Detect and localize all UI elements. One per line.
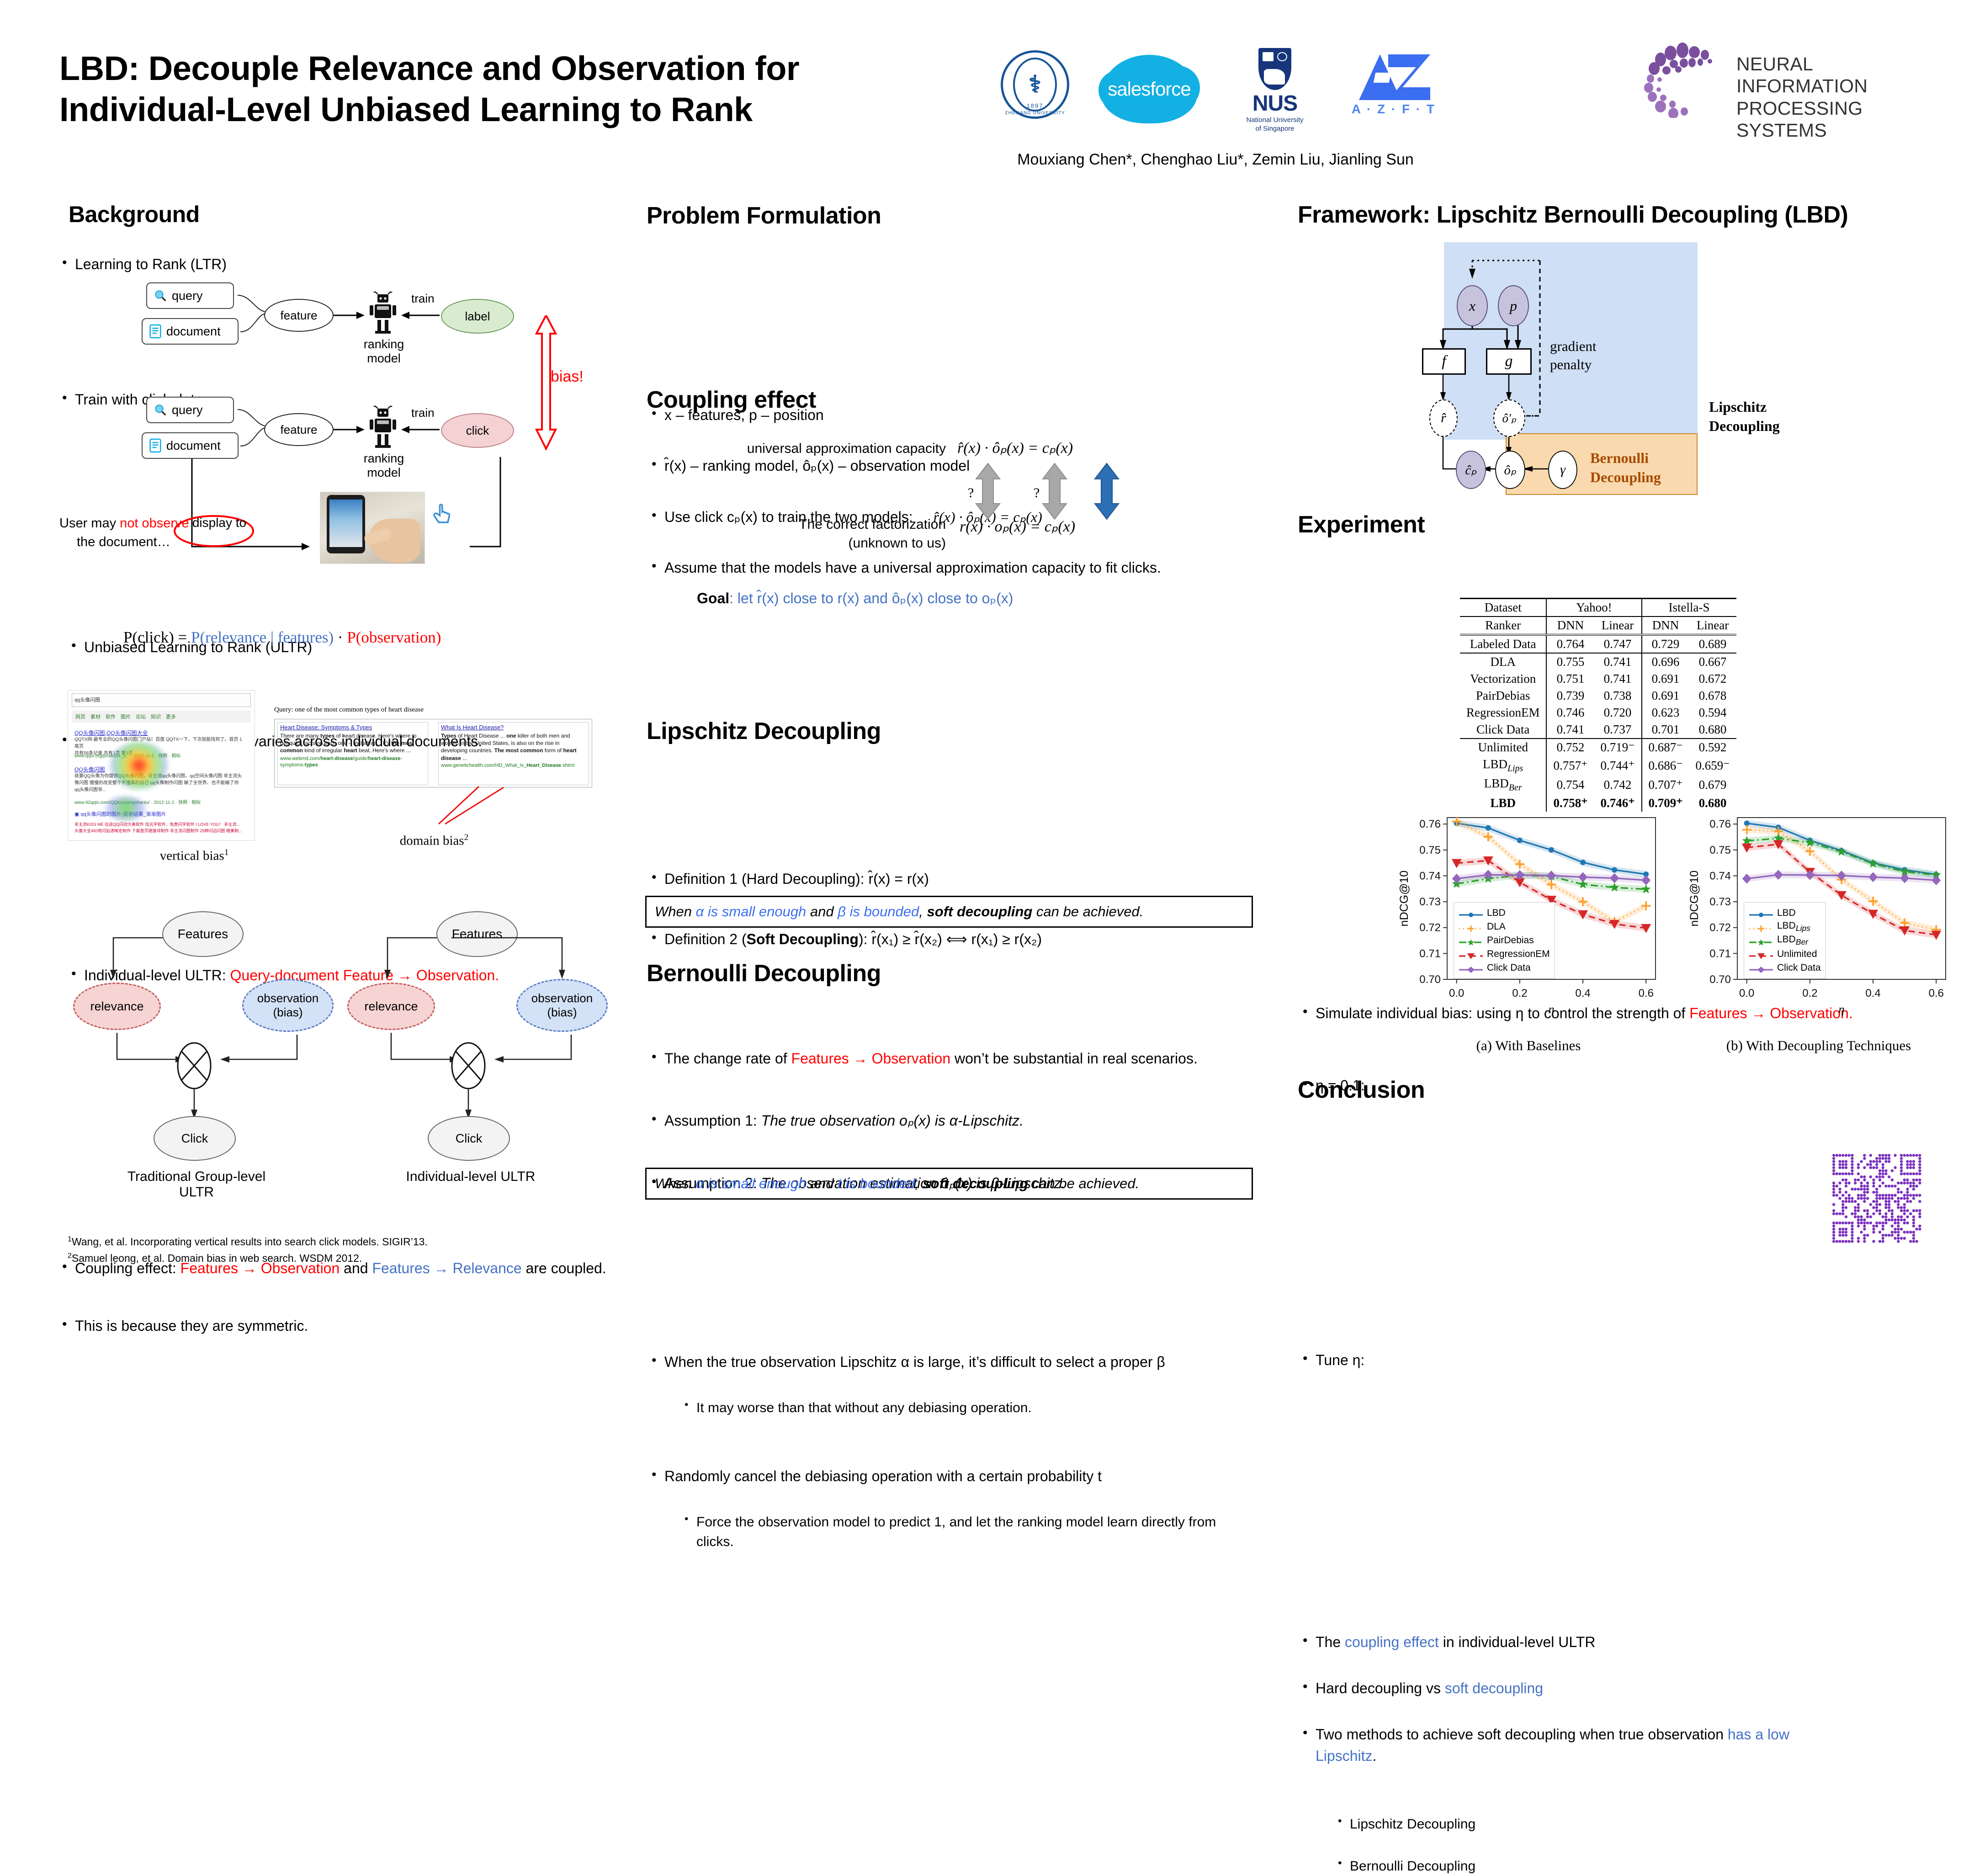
y-tick-label: 0.72 bbox=[1419, 922, 1441, 934]
logo-row: ⚕ 1897 ZHEJIANG UNIVERSITY salesforce NU… bbox=[987, 46, 1471, 137]
col-istella-linear: Linear bbox=[1689, 616, 1736, 635]
x-tick-label: 0.6 bbox=[1929, 987, 1944, 999]
y-tick-label: 0.71 bbox=[1419, 947, 1441, 960]
col-group-yahoo: Yahoo! bbox=[1546, 599, 1641, 617]
bernoulli-statement-box: When α is small enough and t is bounded,… bbox=[645, 1168, 1253, 1200]
legend-swatch bbox=[1749, 965, 1773, 971]
legend-swatch bbox=[1459, 924, 1483, 930]
table-cell: 0.680 bbox=[1689, 721, 1736, 739]
legend-item: RegressionEM bbox=[1459, 947, 1550, 961]
section-heading-problem-formulation: Problem Formulation bbox=[647, 202, 881, 229]
section-heading-bernoulli-decoupling: Bernoulli Decoupling bbox=[647, 960, 881, 987]
table-cell: 0.741 bbox=[1546, 721, 1594, 739]
table-cell: 0.696 bbox=[1642, 653, 1689, 670]
legend-item: LBDLips bbox=[1749, 920, 1821, 934]
experiment-table-body: Labeled Data0.7640.7470.7290.689DLA0.755… bbox=[1460, 635, 1736, 812]
x-tick-label: 0.4 bbox=[1575, 987, 1590, 999]
footnotes: 1Wang, et al. Incorporating vertical res… bbox=[68, 1234, 570, 1266]
nus-subtitle: National University of Singapore bbox=[1234, 116, 1316, 133]
y-tick-label: 0.75 bbox=[1419, 844, 1441, 856]
data-point bbox=[1486, 825, 1491, 831]
table-row-label: Labeled Data bbox=[1460, 635, 1546, 653]
cursor-hand-icon bbox=[430, 502, 457, 529]
serp-domain-bias-screenshot: Query: one of the most common types of h… bbox=[274, 706, 594, 829]
author-list: Mouxiang Chen*, Chenghao Liu*, Zemin Liu… bbox=[987, 151, 1444, 169]
node-p: p bbox=[1498, 285, 1529, 326]
node-gamma: γ bbox=[1548, 451, 1577, 489]
y-tick-label: 0.73 bbox=[1419, 896, 1441, 908]
bullet-change-rate: The change rate of Features → Observatio… bbox=[649, 1048, 1257, 1069]
table-cell: 0.679 bbox=[1689, 775, 1736, 794]
y-tick-label: 0.72 bbox=[1709, 922, 1731, 934]
data-point bbox=[1612, 867, 1617, 872]
table-cell: 0.623 bbox=[1642, 704, 1689, 721]
legend-label: Click Data bbox=[1487, 962, 1531, 973]
data-point bbox=[1580, 860, 1586, 865]
table-row: Vectorization0.7510.7410.6910.672 bbox=[1460, 670, 1736, 687]
label-universal-approximation-capacity: universal approximation capacity bbox=[672, 441, 946, 457]
table-row: PairDebias0.7390.7380.6910.678 bbox=[1460, 687, 1736, 704]
nus-shield-icon bbox=[1258, 48, 1291, 90]
legend-item: DLA bbox=[1459, 920, 1550, 934]
serp-red-pointer-lines bbox=[434, 785, 507, 826]
lipschitz-statement-box: When α is small enough and β is bounded,… bbox=[645, 896, 1253, 928]
zju-year: 1897 bbox=[1003, 102, 1067, 109]
table-cell: 0.755 bbox=[1546, 653, 1594, 670]
legend-label: DLA bbox=[1487, 921, 1506, 932]
click-node: click bbox=[441, 413, 514, 448]
train-label-1: train bbox=[411, 292, 435, 306]
legend-item: LBD bbox=[1459, 906, 1550, 920]
document-icon bbox=[149, 438, 162, 453]
x-tick-label: 0.0 bbox=[1449, 987, 1464, 999]
legend-item: Unlimited bbox=[1749, 947, 1821, 961]
query-box-2: query bbox=[146, 397, 234, 423]
table-cell: 0.746 bbox=[1546, 704, 1594, 721]
table-cell: 0.741 bbox=[1594, 670, 1642, 687]
table-cell: 0.738 bbox=[1594, 687, 1642, 704]
document-icon bbox=[149, 324, 162, 339]
section-heading-framework: Framework: Lipschitz Bernoulli Decouplin… bbox=[1298, 201, 1848, 229]
table-row-label: LBDBer bbox=[1460, 775, 1546, 794]
table-cell: 0.659⁻ bbox=[1689, 756, 1736, 775]
salesforce-logo: salesforce bbox=[1101, 55, 1197, 123]
table-cell: 0.744⁺ bbox=[1594, 756, 1642, 775]
table-cell: 0.739 bbox=[1546, 687, 1594, 704]
legend-swatch bbox=[1459, 951, 1483, 957]
bullet-assumption-1: Assumption 1: The true observation oₚ(x)… bbox=[649, 1110, 1257, 1131]
table-row-label: LBDLips bbox=[1460, 756, 1546, 775]
train-label-2: train bbox=[411, 406, 435, 420]
table-cell: 0.687⁻ bbox=[1642, 739, 1689, 756]
y-tick-label: 0.71 bbox=[1709, 947, 1731, 960]
subbullet-bernoulli-decoupling: Bernoulli Decoupling bbox=[1334, 1856, 1746, 1876]
chart-with-decoupling-techniques: 0.700.710.720.730.740.750.760.00.20.40.6… bbox=[1686, 811, 1951, 1021]
node-x: x bbox=[1457, 285, 1488, 326]
y-axis-label: nDCG@10 bbox=[1688, 871, 1701, 927]
section-heading-experiment: Experiment bbox=[1298, 511, 1425, 538]
azft-mark-icon bbox=[1348, 53, 1439, 102]
bullet-random-cancel: Randomly cancel the debiasing operation … bbox=[649, 1466, 1257, 1487]
title-line-1: LBD: Decouple Relevance and Observation … bbox=[59, 48, 973, 89]
document-box-2: document bbox=[142, 432, 239, 459]
x-tick-label: 0.2 bbox=[1512, 987, 1527, 999]
x-tick-label: 0.4 bbox=[1865, 987, 1880, 999]
section-heading-coupling-effect: Coupling effect bbox=[647, 386, 816, 414]
table-row-label: Unlimited bbox=[1460, 739, 1546, 756]
table-cell: 0.747 bbox=[1594, 635, 1642, 653]
page-title: LBD: Decouple Relevance and Observation … bbox=[59, 48, 973, 131]
node-g: g bbox=[1486, 348, 1532, 375]
table-cell: 0.691 bbox=[1642, 687, 1689, 704]
legend-item: PairDebias bbox=[1459, 934, 1550, 947]
table-cell: 0.689 bbox=[1689, 635, 1736, 653]
table-header-row-1: Dataset Yahoo! Istella-S bbox=[1460, 599, 1736, 617]
y-tick-label: 0.75 bbox=[1709, 844, 1731, 856]
bullet-two-methods: Two methods to achieve soft decoupling w… bbox=[1300, 1724, 1812, 1766]
table-cell: 0.758⁺ bbox=[1546, 795, 1594, 812]
user-not-observe-note: User may not observe the document… bbox=[59, 514, 260, 551]
table-header-row-2: Ranker DNN Linear DNN Linear bbox=[1460, 616, 1736, 635]
table-cell: 0.752 bbox=[1546, 739, 1594, 756]
legend-item: Click Data bbox=[1459, 961, 1550, 975]
serp-right-title: What Is Heart Disease? bbox=[439, 723, 589, 732]
table-row-label: LBD bbox=[1460, 795, 1546, 812]
phone-photo bbox=[320, 492, 425, 564]
col-yahoo-linear: Linear bbox=[1594, 616, 1642, 635]
chart-legend: LBDDLAPairDebiasRegressionEMClick Data bbox=[1454, 902, 1555, 979]
bullet-coupling-effect-conclusion: The coupling effect in individual-level … bbox=[1300, 1632, 1803, 1653]
azft-logo: A · Z · F · T bbox=[1348, 53, 1439, 130]
subbullet-lipschitz-decoupling: Lipschitz Decoupling bbox=[1334, 1814, 1746, 1834]
neurips-wordmark: NEURAL INFORMATION PROCESSING SYSTEMS bbox=[1736, 53, 1942, 142]
query-label-2: query bbox=[172, 403, 203, 417]
col-group-istella: Istella-S bbox=[1642, 599, 1736, 617]
table-cell: 0.751 bbox=[1546, 670, 1594, 687]
legend-label: RegressionEM bbox=[1487, 949, 1550, 960]
legend-swatch bbox=[1749, 910, 1773, 916]
multiply-node-right bbox=[451, 1042, 486, 1089]
label-lipschitz-decoupling: Lipschitz Decoupling bbox=[1709, 398, 1780, 436]
node-r-hat: r̂ bbox=[1429, 399, 1458, 437]
robot-icon-2 bbox=[368, 406, 398, 450]
table-cell: 0.672 bbox=[1689, 670, 1736, 687]
col-yahoo-dnn: DNN bbox=[1546, 616, 1594, 635]
document-label-2: document bbox=[166, 439, 221, 453]
arrow-feature-to-model-2 bbox=[334, 421, 366, 438]
nus-logo: NUS National University of Singapore bbox=[1234, 48, 1316, 137]
feature-node-2: feature bbox=[264, 413, 334, 446]
footnote-2: 2Samuel leong, et al. Domain bias in web… bbox=[68, 1250, 570, 1267]
document-label-1: document bbox=[166, 324, 221, 339]
table-cell: 0.720 bbox=[1594, 704, 1642, 721]
y-tick-label: 0.74 bbox=[1709, 870, 1731, 882]
ultr-graphical-models: Features relevance observation (bias) Cl… bbox=[64, 909, 658, 1147]
equation-true-factorization: r(x) · oₚ(x) = cₚ(x) bbox=[960, 517, 1075, 536]
table-cell: 0.742 bbox=[1594, 775, 1642, 794]
zju-arc-text: ZHEJIANG UNIVERSITY bbox=[1003, 111, 1067, 116]
table-row: DLA0.7550.7410.6960.667 bbox=[1460, 653, 1736, 670]
query-box-1: query bbox=[146, 282, 234, 309]
table-row: LBDLips0.757⁺0.744⁺0.686⁻0.659⁻ bbox=[1460, 756, 1736, 775]
legend-item: LBD bbox=[1749, 906, 1821, 920]
data-point bbox=[1549, 847, 1554, 853]
table-cell: 0.764 bbox=[1546, 635, 1594, 653]
label-bernoulli-decoupling: Bernoulli Decoupling bbox=[1590, 449, 1661, 487]
x-axis-label: η bbox=[1549, 1003, 1555, 1016]
bias-label: bias! bbox=[551, 368, 584, 386]
table-row-label: Click Data bbox=[1460, 721, 1546, 739]
table-row-label: Vectorization bbox=[1460, 670, 1546, 687]
svg-text:?: ? bbox=[1034, 485, 1040, 500]
table-cell: 0.680 bbox=[1689, 795, 1736, 812]
node-f: f bbox=[1422, 348, 1466, 375]
legend-label: LBD bbox=[1487, 908, 1506, 919]
y-axis-label: nDCG@10 bbox=[1398, 871, 1411, 927]
y-tick-label: 0.70 bbox=[1419, 973, 1441, 986]
caption-vertical-bias: vertical bias1 bbox=[126, 848, 263, 864]
table-row: Unlimited0.7520.719⁻0.687⁻0.592 bbox=[1460, 739, 1736, 756]
section-heading-lipschitz-decoupling: Lipschitz Decoupling bbox=[647, 717, 881, 745]
y-tick-label: 0.73 bbox=[1709, 896, 1731, 908]
zhejiang-university-logo: ⚕ 1897 ZHEJIANG UNIVERSITY bbox=[1001, 50, 1069, 119]
multiply-node-left bbox=[177, 1042, 212, 1089]
legend-label: Click Data bbox=[1777, 962, 1821, 973]
definition-1-hard-decoupling: Definition 1 (Hard Decoupling): r̂(x) = … bbox=[649, 868, 1243, 889]
label-correct-factorization: The correct factorization (unknown to us… bbox=[672, 516, 946, 553]
table-row-label: DLA bbox=[1460, 653, 1546, 670]
serp-left-title: Heart Disease: Symptoms & Types bbox=[278, 723, 428, 732]
edges-left-features bbox=[96, 933, 183, 988]
robot-icon-1 bbox=[368, 292, 398, 335]
bullet-learning-to-rank: Learning to Rank (LTR) bbox=[59, 254, 471, 275]
table-cell: 0.691 bbox=[1642, 670, 1689, 687]
azft-wordmark: A · Z · F · T bbox=[1348, 102, 1439, 117]
experiment-table-head: Dataset Yahoo! Istella-S Ranker DNN Line… bbox=[1460, 599, 1736, 635]
bullet-universal-approximation: Assume that the models have a universal … bbox=[649, 557, 1252, 578]
table-row: LBD0.758⁺0.746⁺0.709⁺0.680 bbox=[1460, 795, 1736, 812]
x-axis-label: η bbox=[1839, 1003, 1845, 1016]
section-heading-conclusion: Conclusion bbox=[1298, 1076, 1425, 1104]
arrow-feature-to-model-1 bbox=[334, 307, 366, 324]
legend-label: PairDebias bbox=[1487, 935, 1534, 946]
experiment-table: Dataset Yahoo! Istella-S Ranker DNN Line… bbox=[1460, 598, 1736, 812]
label-node: label bbox=[441, 299, 514, 334]
click-node-right: Click bbox=[428, 1116, 510, 1161]
search-icon bbox=[154, 289, 167, 303]
title-line-2: Individual-Level Unbiased Learning to Ra… bbox=[59, 89, 973, 130]
legend-item: Click Data bbox=[1749, 961, 1821, 975]
caption-individual-level-ultr: Individual-level ULTR bbox=[384, 1169, 557, 1185]
col-ranker: Ranker bbox=[1460, 616, 1546, 635]
svg-text:?: ? bbox=[968, 485, 974, 500]
table-row: Labeled Data0.7640.7470.7290.689 bbox=[1460, 635, 1736, 653]
table-cell: 0.729 bbox=[1642, 635, 1689, 653]
legend-swatch bbox=[1459, 965, 1483, 971]
legend-label: LBDBer bbox=[1777, 934, 1808, 947]
not-observe-emphasis: not observe bbox=[120, 516, 189, 531]
y-tick-label: 0.74 bbox=[1419, 870, 1441, 882]
legend-label: Unlimited bbox=[1777, 949, 1817, 960]
table-cell: 0.709⁺ bbox=[1642, 795, 1689, 812]
relevance-node-left: relevance bbox=[73, 983, 161, 1030]
x-tick-label: 0.6 bbox=[1639, 987, 1654, 999]
caption-traditional-group-ultr: Traditional Group-level ULTR bbox=[110, 1169, 283, 1200]
table-cell: 0.707⁺ bbox=[1642, 775, 1689, 794]
p-observation-term: P(observation) bbox=[347, 628, 441, 646]
nus-wordmark: NUS bbox=[1234, 91, 1316, 116]
query-label-1: query bbox=[172, 289, 203, 303]
serp-query-label: Query: one of the most common types of h… bbox=[274, 706, 424, 714]
table-cell: 0.594 bbox=[1689, 704, 1736, 721]
col-dataset: Dataset bbox=[1460, 599, 1546, 617]
table-cell: 0.592 bbox=[1689, 739, 1736, 756]
table-cell: 0.719⁻ bbox=[1594, 739, 1642, 756]
definition-2-soft-decoupling: Definition 2 (Soft Decoupling): r̂(x₁) ≥… bbox=[649, 929, 1243, 950]
y-tick-label: 0.70 bbox=[1709, 973, 1731, 986]
click-node-left: Click bbox=[154, 1116, 236, 1161]
node-o-hat: ôₚ bbox=[1495, 451, 1525, 489]
table-cell: 0.746⁺ bbox=[1594, 795, 1642, 812]
neurips-swirl-icon bbox=[1640, 40, 1732, 118]
legend-swatch bbox=[1749, 951, 1773, 957]
neurips-logo: NEURAL INFORMATION PROCESSING SYSTEMS bbox=[1640, 40, 1942, 118]
bullet-force-predict-one: Force the observation model to predict 1… bbox=[681, 1512, 1247, 1552]
caption-chart-b: (b) With Decoupling Techniques bbox=[1682, 1037, 1956, 1054]
search-icon bbox=[154, 403, 167, 417]
col-istella-dnn: DNN bbox=[1642, 616, 1689, 635]
label-gradient-penalty: gradient penalty bbox=[1550, 337, 1597, 374]
serp-heatmap-screenshot: qq头像闪图 网页 素材 软件 图片 论坛 知识 更多 QQ头像闪图,QQ头像闪… bbox=[68, 690, 255, 841]
legend-swatch bbox=[1459, 910, 1483, 916]
bullet-hard-vs-soft: Hard decoupling vs soft decoupling bbox=[1300, 1678, 1803, 1699]
y-tick-label: 0.76 bbox=[1419, 818, 1441, 830]
node-o-hat-prime: ô′ₚ bbox=[1493, 399, 1525, 437]
framework-diagram: x p f g r̂ ô′ₚ ôₚ γ ĉₚ gradient penalty … bbox=[1389, 242, 1910, 498]
bullet-worse-without-debias: It may worse than that without any debia… bbox=[681, 1398, 1257, 1418]
arrow-click-to-model bbox=[399, 421, 440, 438]
footnote-1: 1Wang, et al. Incorporating vertical res… bbox=[68, 1234, 570, 1250]
caption-chart-a: (a) With Baselines bbox=[1414, 1037, 1643, 1054]
bullet-symmetric: This is because they are symmetric. bbox=[59, 1315, 608, 1336]
bullet-tune-eta: Tune η: bbox=[1300, 1350, 1437, 1371]
table-cell: 0.667 bbox=[1689, 653, 1736, 670]
table-row-label: RegressionEM bbox=[1460, 704, 1546, 721]
legend-item: LBDBer bbox=[1749, 934, 1821, 947]
click-probability-formula: P(click) = P(relevance | features) · P(o… bbox=[123, 628, 603, 647]
arrow-label-to-model bbox=[399, 307, 440, 324]
legend-label: LBD bbox=[1777, 908, 1796, 919]
table-row-label: PairDebias bbox=[1460, 687, 1546, 704]
table-cell: 0.737 bbox=[1594, 721, 1642, 739]
section-heading-background: Background bbox=[69, 201, 200, 228]
chart-with-baselines: 0.700.710.720.730.740.750.760.00.20.40.6… bbox=[1396, 811, 1661, 1021]
goal-statement: Goal: let r̂(x) close to r(x) and ôₚ(x) … bbox=[697, 590, 1245, 607]
legend-swatch bbox=[1749, 924, 1773, 930]
node-c-hat: ĉₚ bbox=[1456, 451, 1486, 489]
feature-node-1: feature bbox=[264, 299, 334, 332]
equation-estimated-factorization: r̂(x) · ôₚ(x) = cₚ(x) bbox=[957, 439, 1073, 457]
table-cell: 0.678 bbox=[1689, 687, 1736, 704]
legend-label: LBDLips bbox=[1777, 920, 1810, 933]
table-cell: 0.754 bbox=[1546, 775, 1594, 794]
coupling-question-arrows: ? ? bbox=[964, 462, 1156, 521]
caption-domain-bias: domain bias2 bbox=[352, 833, 516, 849]
chart-legend: LBDLBDLipsLBDBerUnlimitedClick Data bbox=[1744, 902, 1826, 979]
data-point bbox=[1517, 838, 1523, 843]
qr-code[interactable] bbox=[1832, 1154, 1921, 1243]
ranking-model-label-1: ranking model bbox=[352, 337, 416, 366]
x-tick-label: 0.0 bbox=[1739, 987, 1754, 999]
bullet-large-alpha: When the true observation Lipschitz α is… bbox=[649, 1351, 1257, 1372]
table-cell: 0.686⁻ bbox=[1642, 756, 1689, 775]
p-relevance-term: P(relevance | features) bbox=[191, 628, 334, 646]
table-row: LBDBer0.7540.7420.707⁺0.679 bbox=[1460, 775, 1736, 794]
salesforce-wordmark: salesforce bbox=[1101, 55, 1197, 123]
x-tick-label: 0.2 bbox=[1802, 987, 1817, 999]
click-data-diagram: query document feature ranking model tra… bbox=[137, 393, 640, 585]
table-row: Click Data0.7410.7370.7010.680 bbox=[1460, 721, 1736, 739]
legend-swatch bbox=[1459, 937, 1483, 944]
table-row: RegressionEM0.7460.7200.6230.594 bbox=[1460, 704, 1736, 721]
y-tick-label: 0.76 bbox=[1709, 818, 1731, 830]
table-cell: 0.701 bbox=[1642, 721, 1689, 739]
table-cell: 0.757⁺ bbox=[1546, 756, 1594, 775]
relevance-node-right: relevance bbox=[347, 983, 435, 1030]
document-box-1: document bbox=[142, 318, 239, 345]
experiment-table-wrap: Dataset Yahoo! Istella-S Ranker DNN Line… bbox=[1460, 598, 1736, 812]
table-cell: 0.741 bbox=[1594, 653, 1642, 670]
legend-swatch bbox=[1749, 937, 1773, 944]
